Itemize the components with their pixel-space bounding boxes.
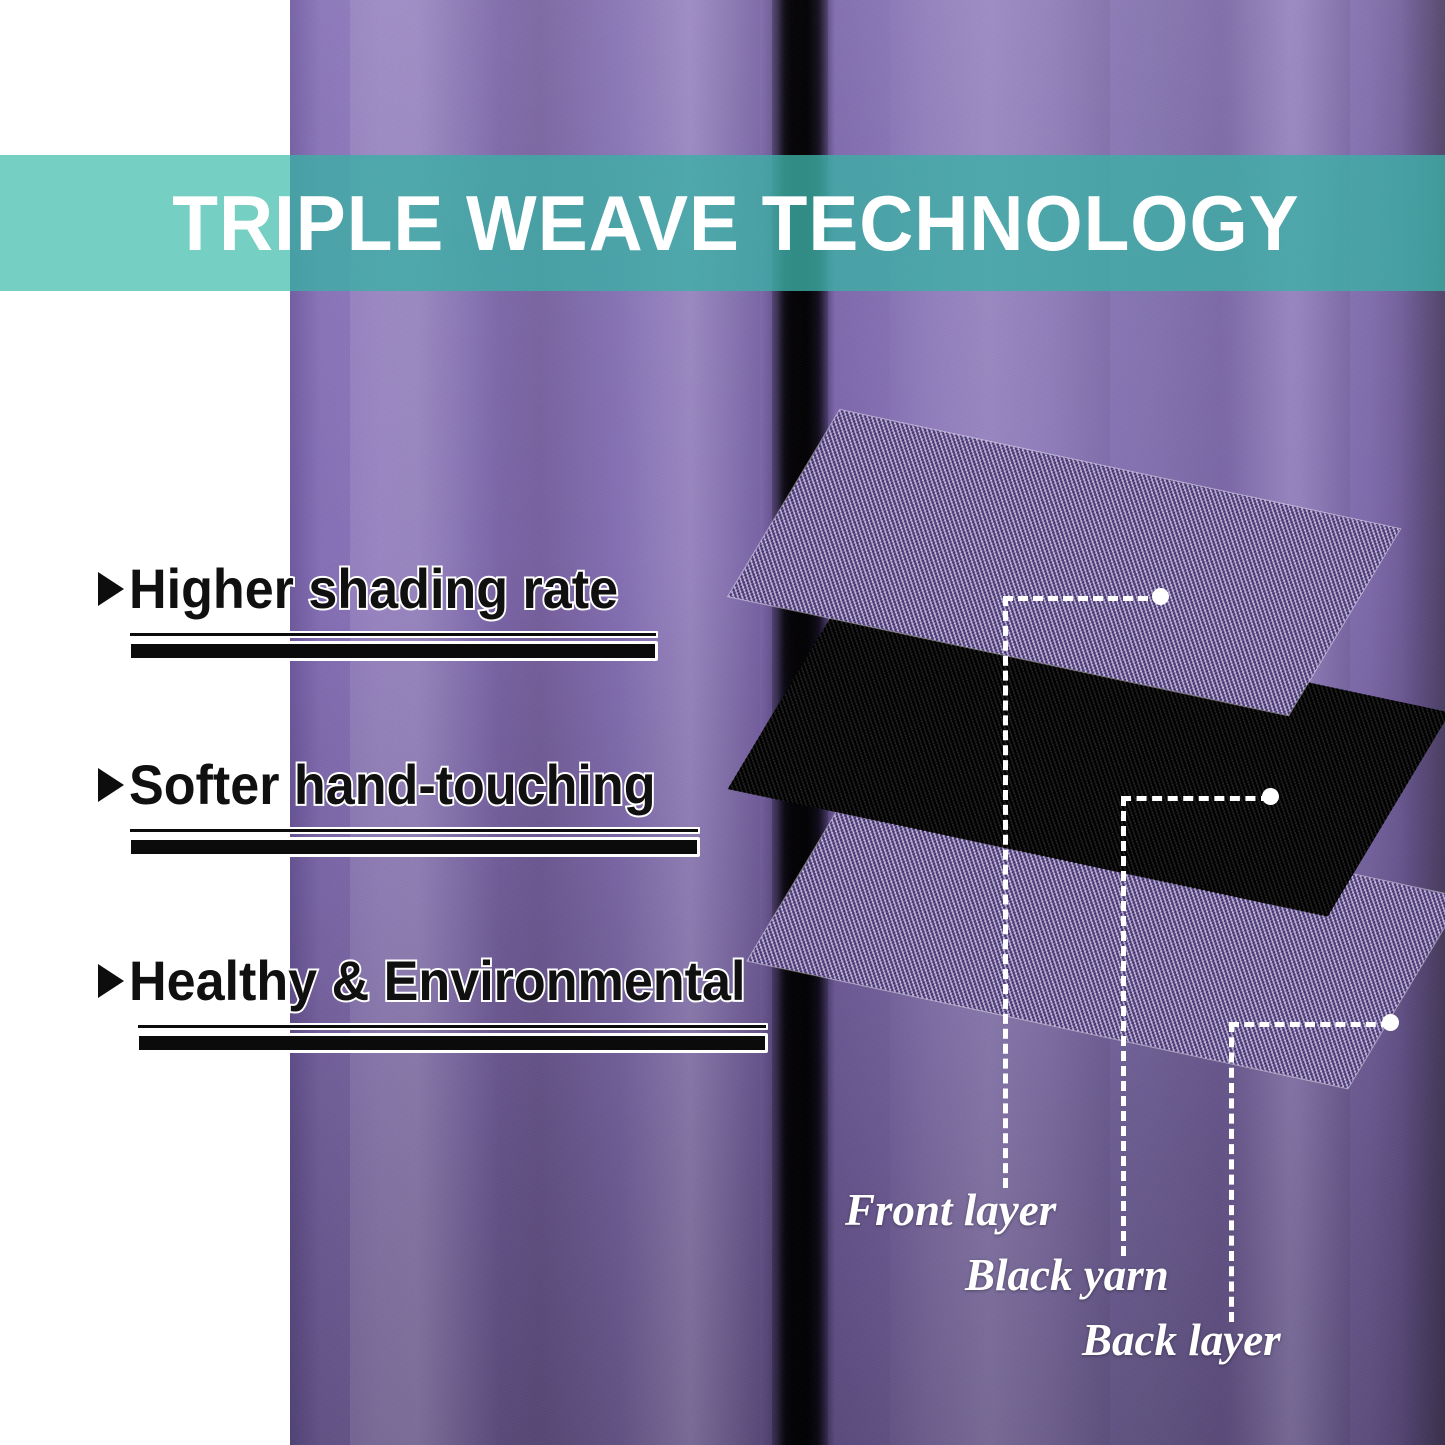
callout-line-back-horizontal: [1229, 1022, 1391, 1027]
triangle-bullet-icon: [98, 964, 124, 998]
feature-divider: [136, 1023, 768, 1053]
divider-thin-line: [136, 1023, 768, 1030]
callout-line-back-vertical: [1229, 1022, 1234, 1322]
feature-label: Softer hand-touching: [129, 756, 656, 813]
feature-heading: Higher shading rate: [0, 560, 820, 617]
divider-thick-bar: [136, 1033, 768, 1053]
divider-thin-line: [128, 631, 658, 638]
callout-dot-front: [1152, 588, 1169, 605]
feature-list: Higher shading rate Softer hand-touching…: [0, 560, 820, 1148]
callout-line-black-horizontal: [1121, 796, 1271, 801]
diagram-label-black-yarn: Black yarn: [965, 1253, 1169, 1298]
divider-thin-line: [128, 827, 700, 834]
feature-label: Higher shading rate: [129, 560, 618, 617]
fabric-layer-diagram: [840, 410, 1445, 1210]
triangle-bullet-icon: [98, 768, 124, 802]
feature-divider: [128, 827, 700, 857]
callout-dot-back: [1382, 1014, 1399, 1031]
callout-line-black-vertical: [1121, 796, 1126, 1256]
diagram-label-front-layer: Front layer: [845, 1188, 1056, 1233]
feature-label: Healthy & Environmental: [129, 952, 745, 1009]
feature-divider: [128, 631, 658, 661]
divider-thick-bar: [128, 837, 700, 857]
feature-item-hand-touching: Softer hand-touching: [0, 756, 820, 857]
diagram-label-back-layer: Back layer: [1082, 1318, 1281, 1363]
feature-item-shading-rate: Higher shading rate: [0, 560, 820, 661]
page-title: TRIPLE WEAVE TECHNOLOGY: [29, 184, 1416, 262]
divider-thick-bar: [128, 641, 658, 661]
title-banner: TRIPLE WEAVE TECHNOLOGY: [0, 155, 1445, 291]
callout-dot-black-yarn: [1262, 788, 1279, 805]
triangle-bullet-icon: [98, 572, 124, 606]
feature-heading: Healthy & Environmental: [0, 952, 820, 1009]
feature-heading: Softer hand-touching: [0, 756, 820, 813]
product-infographic: TRIPLE WEAVE TECHNOLOGY Higher shading r…: [0, 0, 1445, 1445]
feature-item-healthy-environmental: Healthy & Environmental: [0, 952, 820, 1053]
callout-line-front-horizontal: [1003, 596, 1163, 601]
callout-line-front-vertical: [1003, 596, 1008, 1188]
